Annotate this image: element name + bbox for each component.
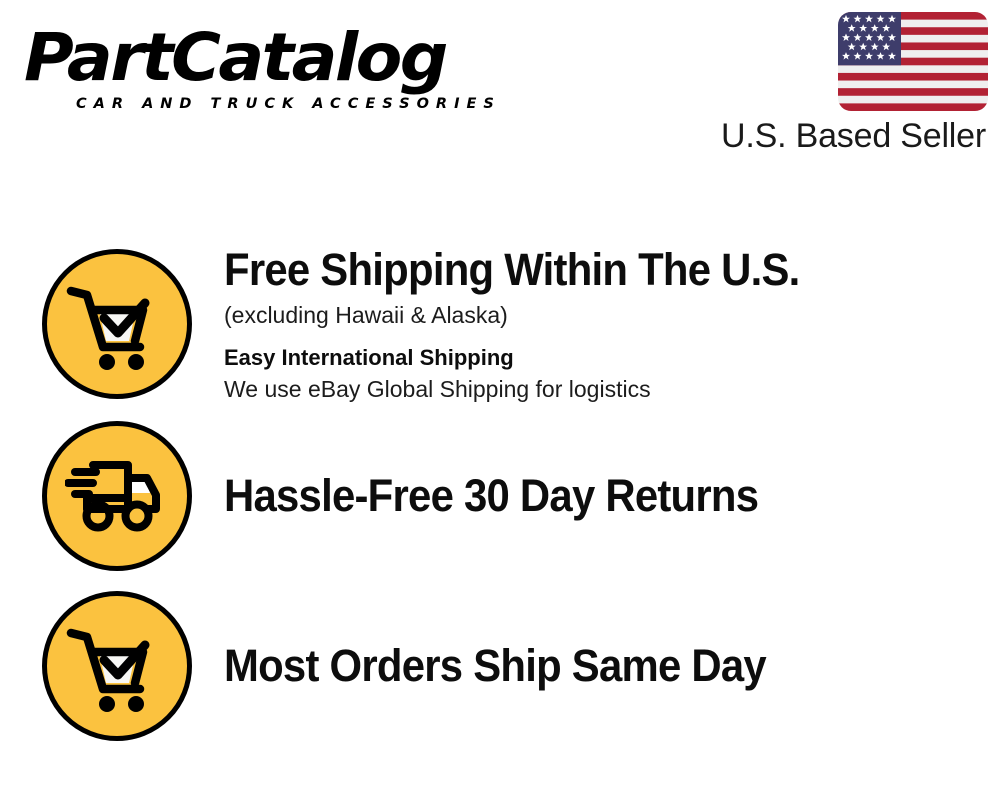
shopping-cart-check-icon <box>42 591 192 741</box>
feature-text: Free Shipping Within The U.S. (excluding… <box>224 245 1000 404</box>
us-flag-icon <box>838 12 988 111</box>
banner-header: PartCatalog CAR AND TRUCK ACCESSORIES <box>0 0 1000 180</box>
feature-subline: (excluding Hawaii & Alaska) <box>224 300 980 330</box>
partcatalog-logo: PartCatalog CAR AND TRUCK ACCESSORIES <box>24 22 494 114</box>
delivery-truck-icon <box>42 421 192 571</box>
feature-row: Hassle-Free 30 Day Returns <box>0 416 1000 576</box>
brand-tagline: CAR AND TRUCK ACCESSORIES <box>76 96 501 112</box>
feature-sub-heading: Easy International Shipping <box>224 344 980 372</box>
feature-row: Most Orders Ship Same Day <box>0 586 1000 746</box>
feature-headline: Most Orders Ship Same Day <box>224 641 927 691</box>
us-based-seller-label: U.S. Based Seller <box>721 116 986 156</box>
shopping-cart-check-icon <box>42 249 192 399</box>
feature-headline: Free Shipping Within The U.S. <box>224 245 927 295</box>
feature-text: Hassle-Free 30 Day Returns <box>224 471 1000 521</box>
feature-sub-detail: We use eBay Global Shipping for logistic… <box>224 374 980 404</box>
feature-text: Most Orders Ship Same Day <box>224 641 1000 691</box>
feature-headline: Hassle-Free 30 Day Returns <box>224 471 927 521</box>
brand-wordmark: PartCatalog <box>24 22 446 94</box>
feature-row: Free Shipping Within The U.S. (excluding… <box>0 244 1000 404</box>
